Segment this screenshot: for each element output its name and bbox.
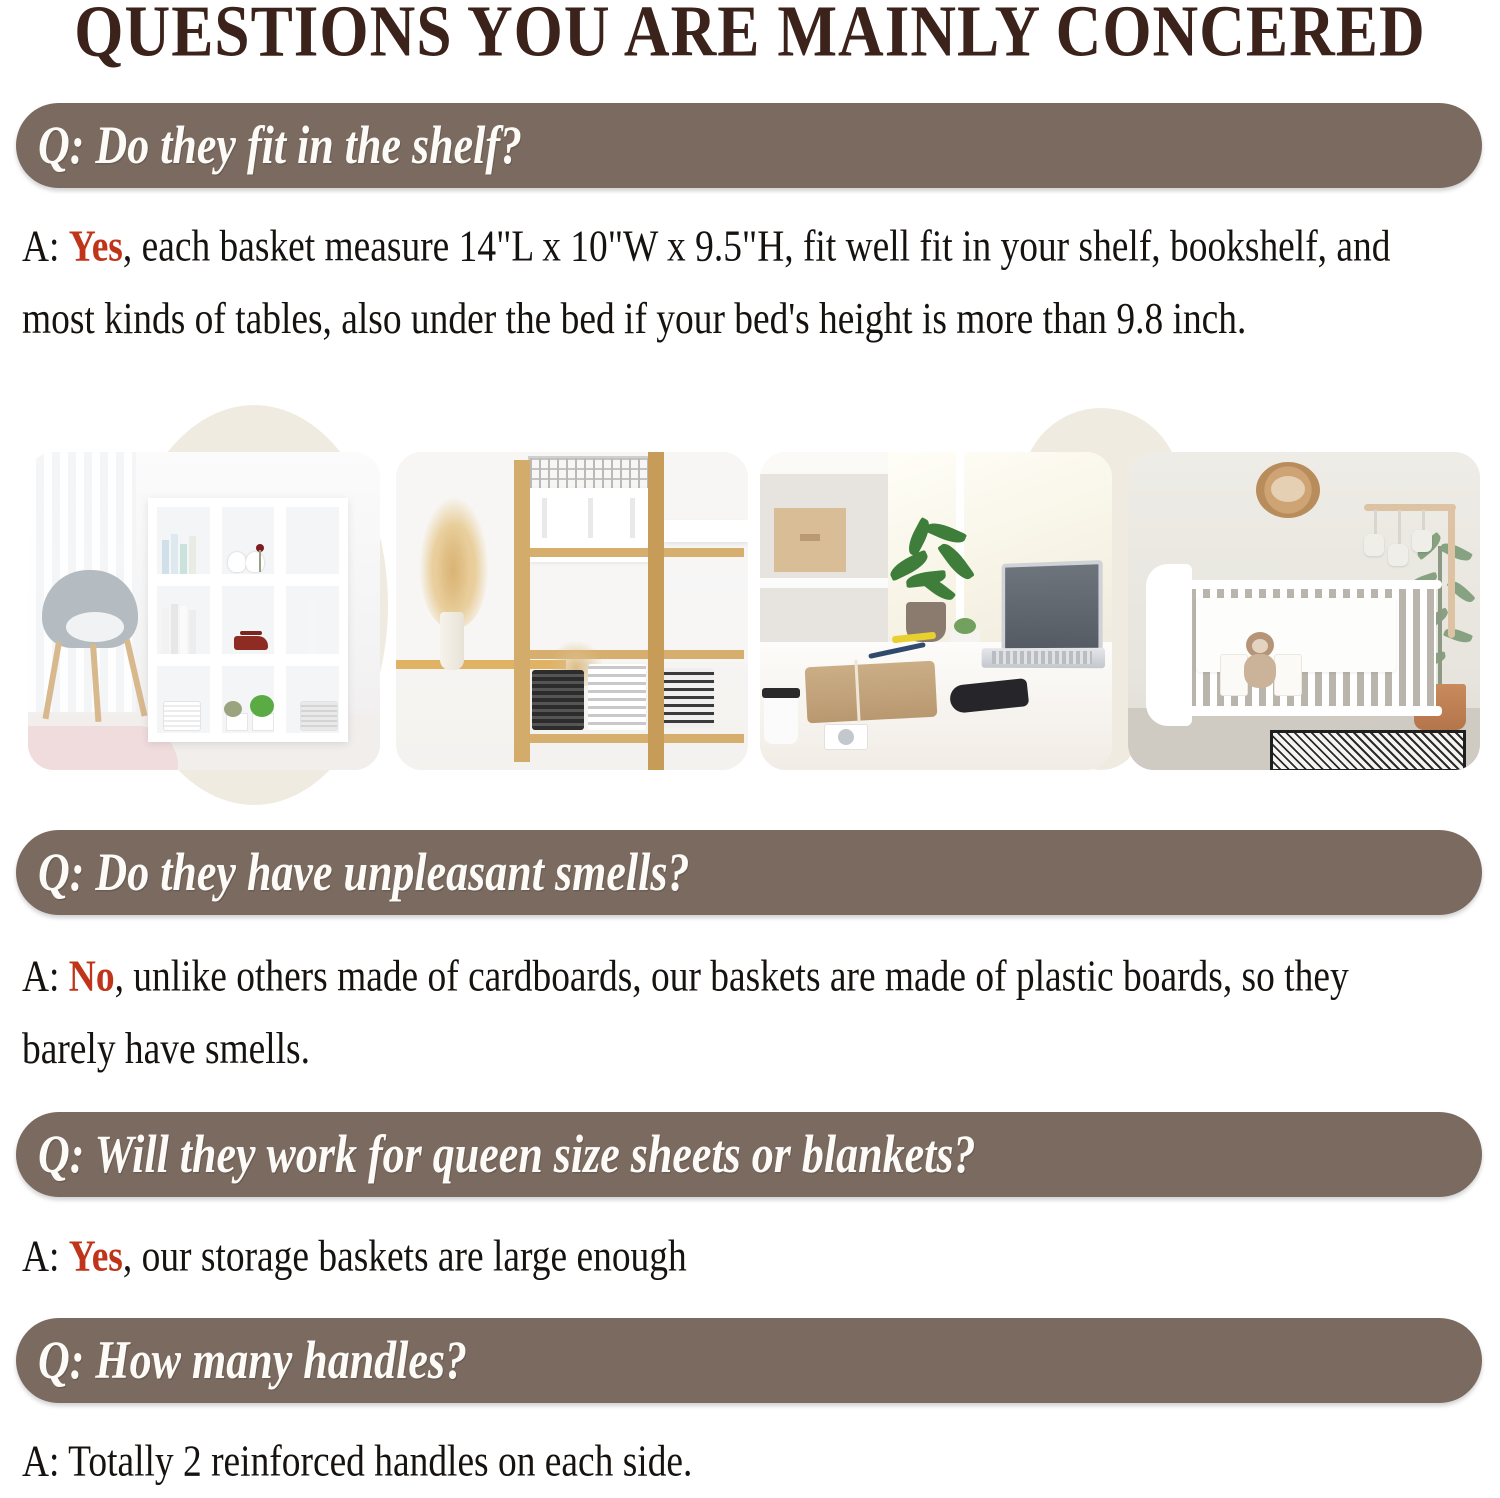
faq-answer-3: A: Yes, our storage baskets are large en… — [22, 1220, 1416, 1293]
faq-answer-prefix-4: A: Totally 2 reinforced handles on each … — [22, 1437, 692, 1486]
faq-answer-rest-1: , each basket measure 14"L x 10"W x 9.5"… — [22, 222, 1390, 344]
faq-answer-prefix-1: A: — [22, 222, 69, 271]
faq-answer-highlight-3: Yes — [69, 1232, 123, 1281]
faq-answer-4: A: Totally 2 reinforced handles on each … — [22, 1425, 1416, 1498]
photo-bamboo-shelf — [396, 452, 748, 770]
photo-strip — [0, 452, 1500, 772]
faq-answer-highlight-1: Yes — [69, 222, 123, 271]
faq-answer-2: A: No, unlike others made of cardboards,… — [22, 940, 1416, 1085]
faq-answer-1: A: Yes, each basket measure 14"L x 10"W … — [22, 210, 1416, 355]
faq-question-text-2: Q: Do they have unpleasant smells? — [16, 841, 689, 903]
photo-bookshelf — [28, 452, 380, 770]
page-title: QUESTIONS YOU ARE MAINLY CONCERED — [0, 0, 1500, 71]
faq-question-text-3: Q: Will they work for queen size sheets … — [16, 1123, 976, 1185]
faq-answer-rest-2: , unlike others made of cardboards, our … — [22, 952, 1349, 1074]
faq-question-text-4: Q: How many handles? — [16, 1329, 467, 1391]
faq-question-bar-1: Q: Do they fit in the shelf? — [16, 103, 1482, 188]
faq-question-bar-2: Q: Do they have unpleasant smells? — [16, 830, 1482, 915]
photo-home-office — [760, 452, 1112, 770]
photo-nursery — [1128, 452, 1480, 770]
faq-answer-rest-3: , our storage baskets are large enough — [123, 1232, 687, 1281]
faq-answer-prefix-2: A: — [22, 952, 69, 1001]
faq-question-bar-3: Q: Will they work for queen size sheets … — [16, 1112, 1482, 1197]
faq-question-bar-4: Q: How many handles? — [16, 1318, 1482, 1403]
faq-question-text-1: Q: Do they fit in the shelf? — [16, 114, 522, 176]
faq-answer-prefix-3: A: — [22, 1232, 69, 1281]
faq-answer-highlight-2: No — [69, 952, 115, 1001]
